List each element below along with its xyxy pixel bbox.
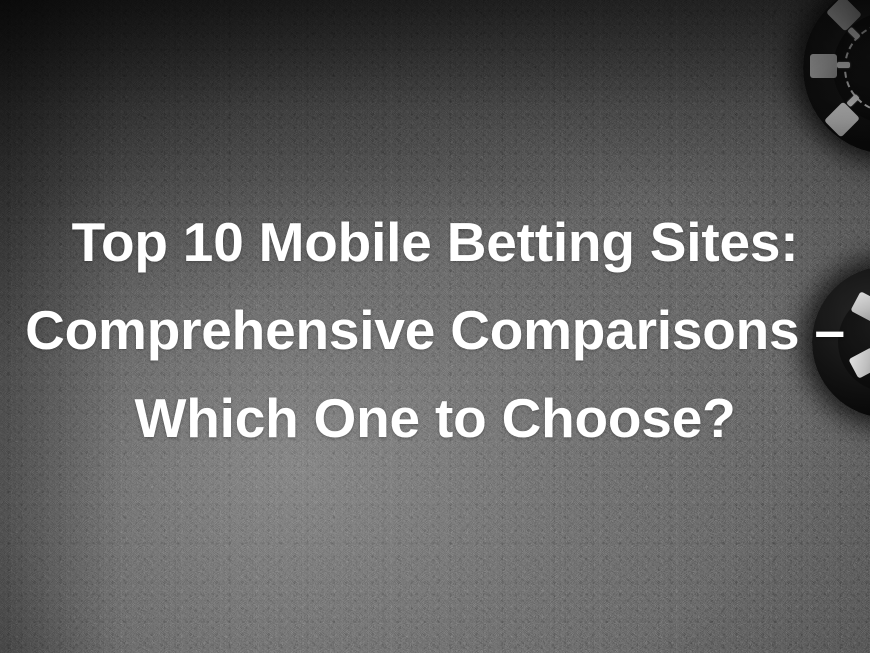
poker-chip-edge-block <box>810 54 837 78</box>
banner-image: Top 10 Mobile Betting Sites: Comprehensi… <box>0 0 870 653</box>
poker-chip-dash <box>837 62 850 68</box>
felt-background <box>0 0 870 653</box>
